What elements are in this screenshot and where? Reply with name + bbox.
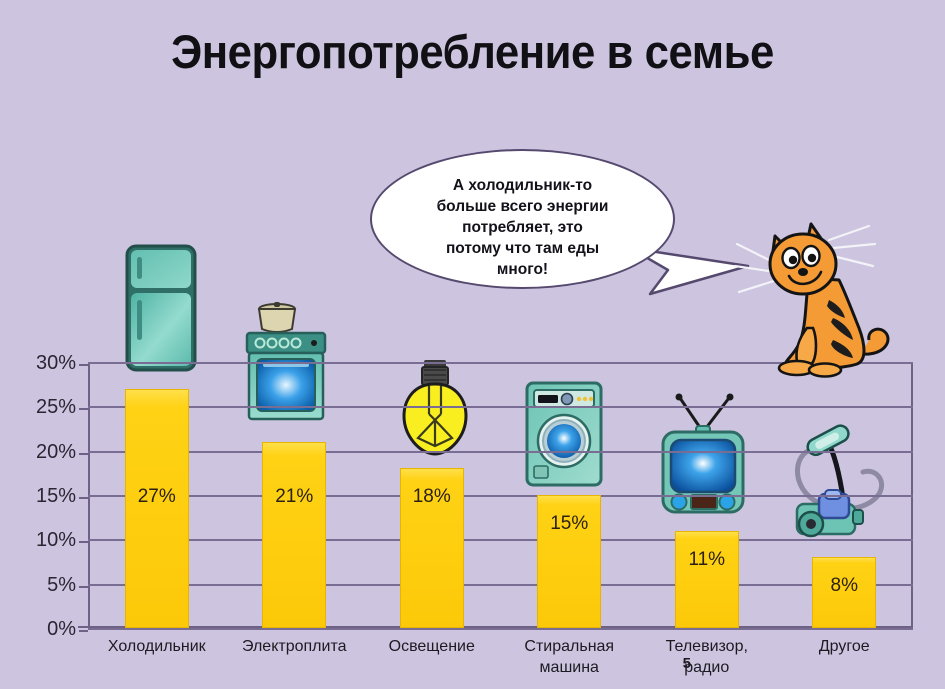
bar-slot: 21% xyxy=(226,362,364,628)
bar-slot: 15% xyxy=(501,362,639,628)
ytick-label-5: 5% xyxy=(47,574,76,597)
speech-line: потому что там еды xyxy=(400,238,645,259)
xlabel-line: Другое xyxy=(776,636,914,657)
xlabel-line: радио xyxy=(638,657,776,678)
bar-value-label: 8% xyxy=(831,575,858,597)
xlabel-other: Другое xyxy=(776,636,914,678)
bar-value-label: 21% xyxy=(275,486,313,508)
bar-washing-machine[interactable]: 15% xyxy=(537,495,601,628)
bar-lighting[interactable]: 18% xyxy=(400,468,464,628)
bar-slot: 27% xyxy=(88,362,226,628)
xlabel-line: машина xyxy=(501,657,639,678)
ytick-mark-15 xyxy=(79,497,88,499)
bar-stove[interactable]: 21% xyxy=(262,442,326,628)
cat-illustration xyxy=(733,222,933,382)
xlabel-tv-radio: Телевизор, радио 5 xyxy=(638,636,776,678)
xlabel-line: Электроплита xyxy=(226,636,364,657)
xlabel-washing-machine: Стиральная машина xyxy=(501,636,639,678)
speech-line: больше всего энергии xyxy=(400,196,645,217)
speech-line: потребляет, это xyxy=(400,217,645,238)
refrigerator-icon xyxy=(124,243,198,373)
gridline-0: 0% xyxy=(88,628,913,630)
ytick-mark-0 xyxy=(79,630,88,632)
bar-refrigerator[interactable]: 27% xyxy=(125,389,189,628)
ytick-label-25: 25% xyxy=(36,396,76,419)
xlabel-line: Стиральная xyxy=(501,636,639,657)
bar-slot: 8% xyxy=(776,362,914,628)
bar-value-label: 18% xyxy=(413,486,451,508)
bar-value-label: 27% xyxy=(138,486,176,508)
bar-series: 27% 21% 18% 15% 11% 8% xyxy=(88,362,913,628)
ytick-mark-20 xyxy=(79,453,88,455)
speech-bubble-text: А холодильник-то больше всего энергии по… xyxy=(400,175,645,280)
speech-line: много! xyxy=(400,259,645,280)
ytick-label-30: 30% xyxy=(36,352,76,375)
xlabel-line: Холодильник xyxy=(88,636,226,657)
bar-value-label: 11% xyxy=(688,549,725,571)
bar-slot: 11% xyxy=(638,362,776,628)
xlabel-line: Телевизор, xyxy=(638,636,776,657)
bar-chart: 30% 25% 20% 15% 10% 5% 0% 27% 21% xyxy=(88,362,913,628)
x-axis-labels: Холодильник Электроплита Освещение Стира… xyxy=(88,636,913,678)
xlabel-refrigerator: Холодильник xyxy=(88,636,226,678)
xlabel-lighting: Освещение xyxy=(363,636,501,678)
xlabel-stove: Электроплита xyxy=(226,636,364,678)
slide-number: 5 xyxy=(683,653,691,674)
ytick-label-15: 15% xyxy=(36,485,76,508)
ytick-label-0: 0% xyxy=(47,618,76,641)
ytick-mark-5 xyxy=(79,586,88,588)
bar-slot: 18% xyxy=(363,362,501,628)
speech-line: А холодильник-то xyxy=(400,175,645,196)
bar-value-label: 15% xyxy=(550,513,588,535)
ytick-mark-25 xyxy=(79,408,88,410)
page-title: Энергопотребление в семье xyxy=(33,24,912,79)
cat-speech-bubble: А холодильник-то больше всего энергии по… xyxy=(370,149,675,289)
bar-tv-radio[interactable]: 11% xyxy=(675,531,739,629)
bar-other[interactable]: 8% xyxy=(812,557,876,628)
ytick-label-20: 20% xyxy=(36,441,76,464)
ytick-mark-30 xyxy=(79,364,88,366)
ytick-mark-10 xyxy=(79,541,88,543)
ytick-label-10: 10% xyxy=(36,529,76,552)
xlabel-line: Освещение xyxy=(363,636,501,657)
